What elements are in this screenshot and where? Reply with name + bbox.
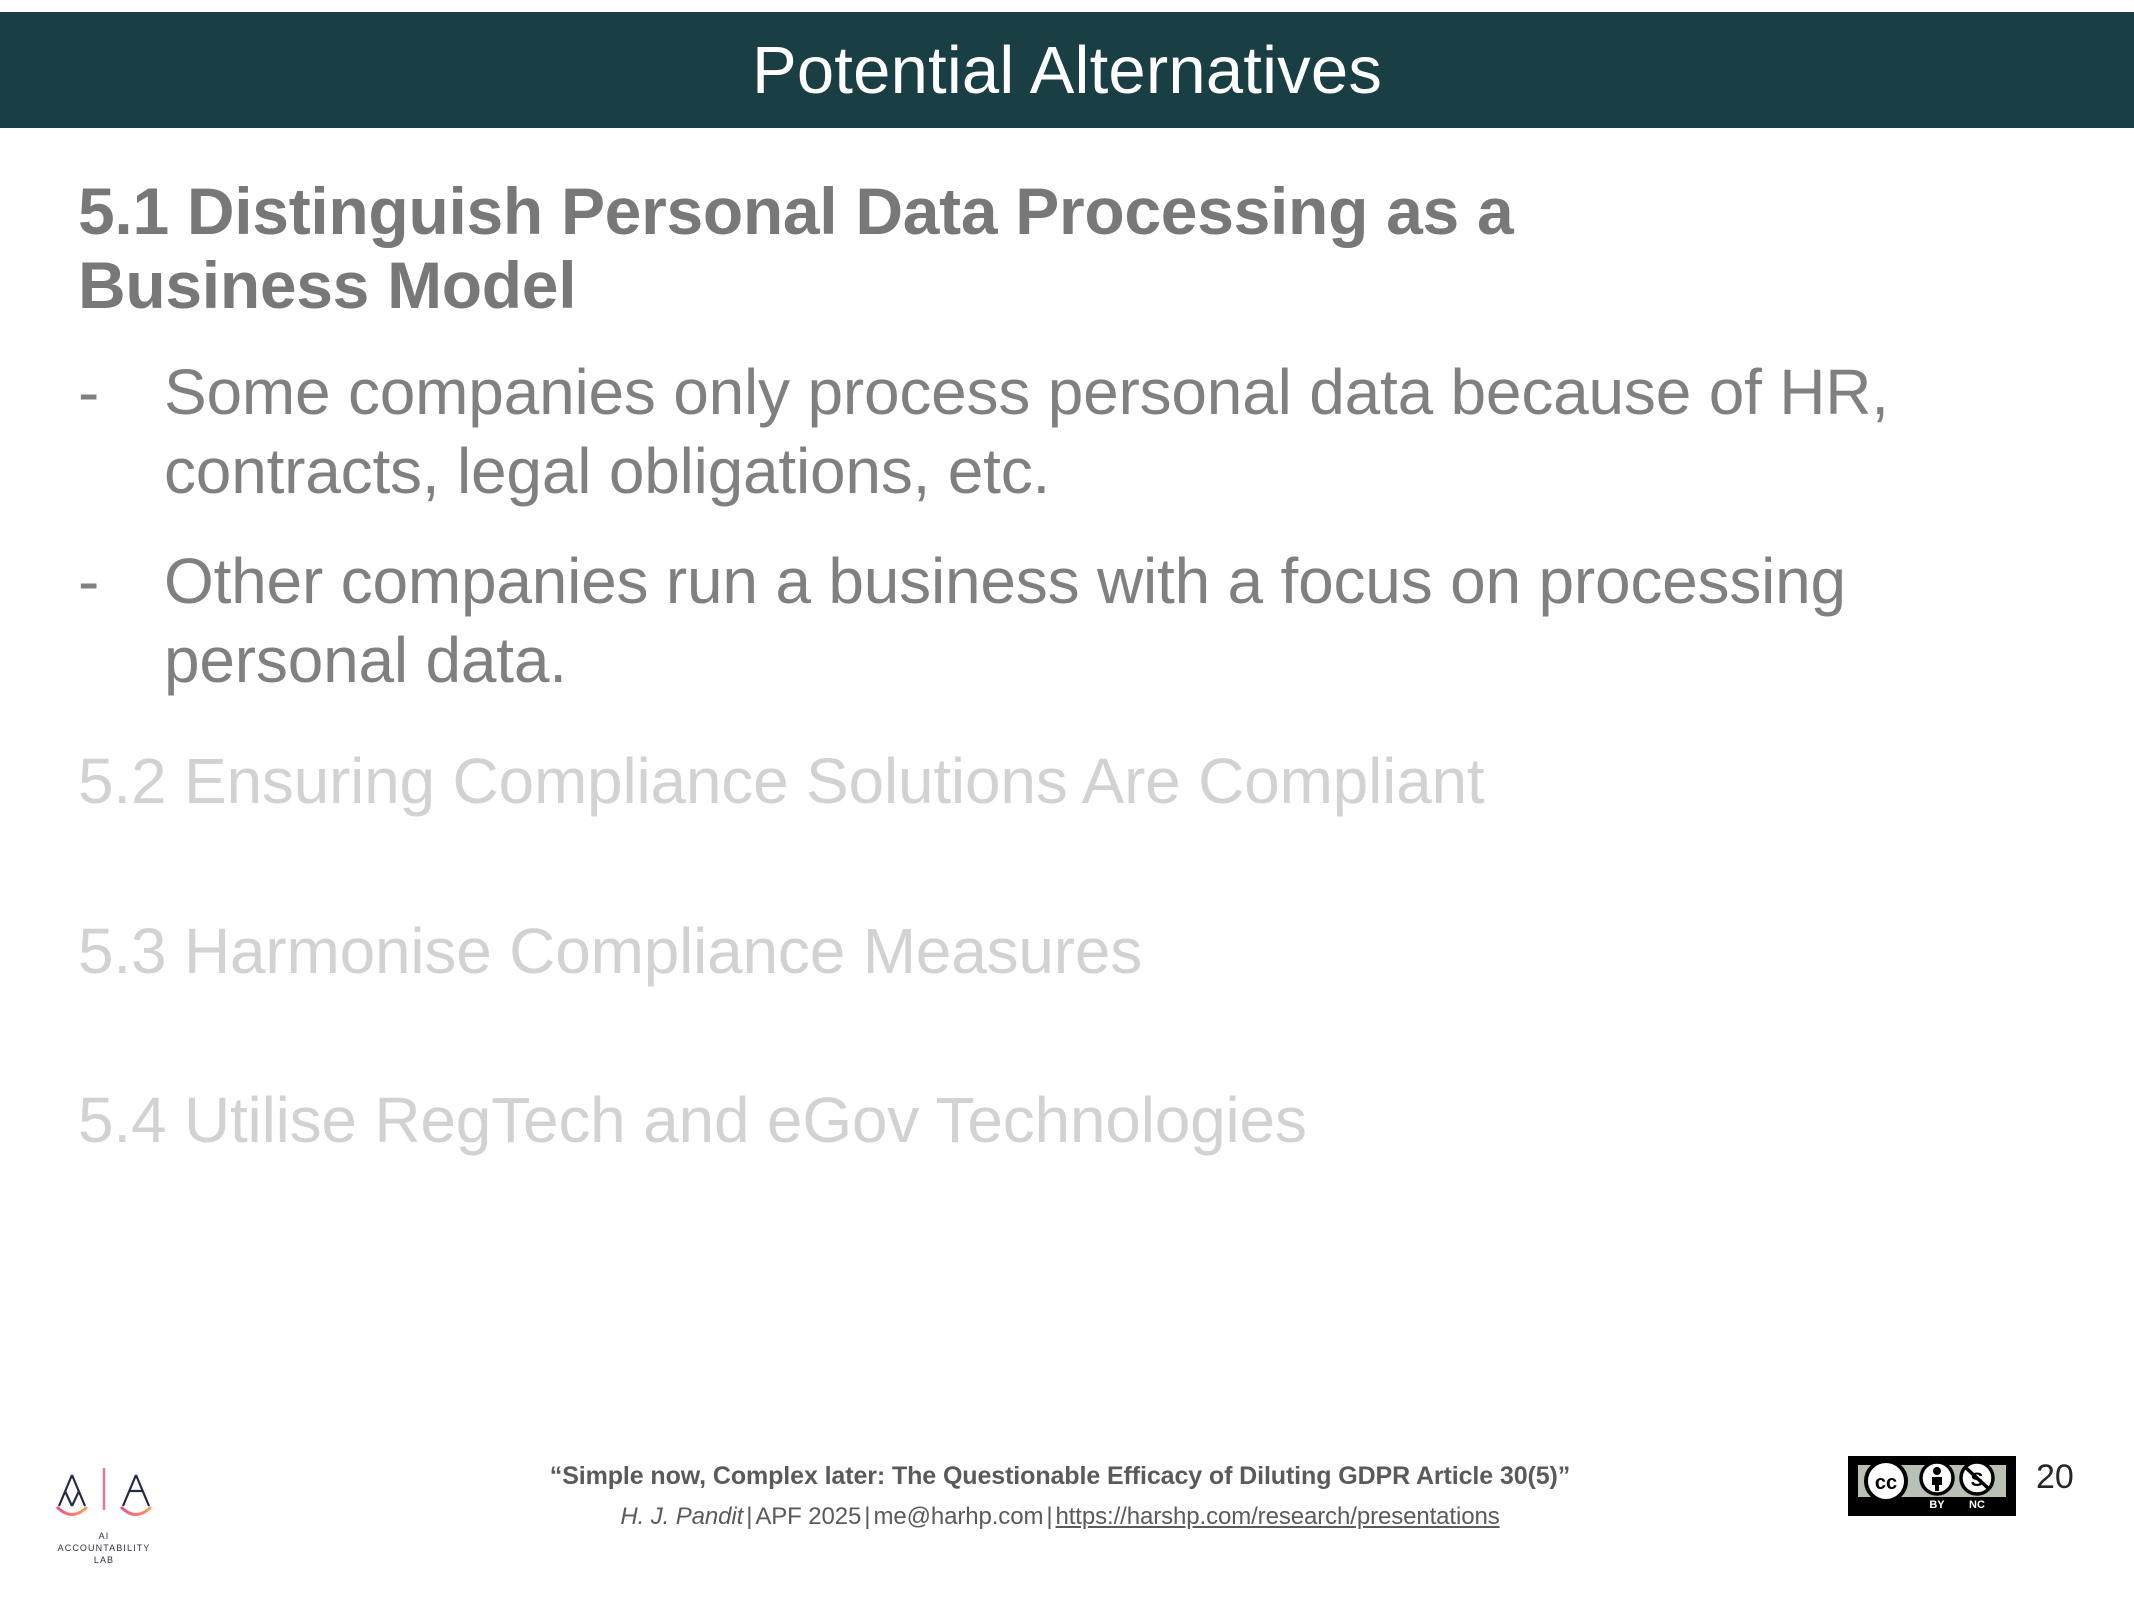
slide-content: 5.1 Distinguish Personal Data Processing…: [78, 175, 2068, 1250]
byline: H. J. Pandit|APF 2025|me@harhp.com|https…: [420, 1500, 1700, 1535]
svg-text:BY: BY: [1929, 1499, 1945, 1511]
byline-separator: |: [861, 1503, 873, 1530]
slide-title: Potential Alternatives: [752, 37, 1382, 104]
upcoming-section-item: 5.3 Harmonise Compliance Measures: [78, 912, 2068, 991]
upcoming-sections-list: 5.2 Ensuring Compliance Solutions Are Co…: [78, 742, 2068, 1160]
svg-text:cc: cc: [1875, 1472, 1897, 1494]
paper-title: “Simple now, Complex later: The Question…: [420, 1460, 1700, 1494]
byline-separator: |: [743, 1503, 755, 1530]
bullet-text: Other companies run a business with a fo…: [164, 542, 2004, 701]
byline-separator: |: [1043, 1503, 1055, 1530]
logo-line-2: ACCOUNTABILITY: [34, 1542, 174, 1554]
upcoming-section-item: 5.4 Utilise RegTech and eGov Technologie…: [78, 1081, 2068, 1160]
author-email: me@harhp.com: [873, 1503, 1043, 1530]
svg-text:NC: NC: [1969, 1499, 1985, 1511]
bullet-item: - Other companies run a business with a …: [78, 542, 2068, 701]
logo-line-3: LAB: [34, 1554, 174, 1566]
bullet-dash-icon: -: [78, 542, 164, 621]
logo-wordmark: AI ACCOUNTABILITY LAB: [34, 1530, 174, 1566]
author-name: H. J. Pandit: [620, 1503, 743, 1530]
bullet-item: - Some companies only process personal d…: [78, 353, 2068, 512]
bullet-list: - Some companies only process personal d…: [78, 353, 2068, 700]
logo-line-1: AI: [34, 1530, 174, 1542]
slide-header-bar: Potential Alternatives: [0, 12, 2134, 128]
upcoming-section-item: 5.2 Ensuring Compliance Solutions Are Co…: [78, 742, 2068, 821]
section-heading: 5.1 Distinguish Personal Data Processing…: [78, 175, 1798, 323]
ai-accountability-lab-logo: AI ACCOUNTABILITY LAB: [34, 1458, 174, 1578]
presentations-link[interactable]: https://harshp.com/research/presentation…: [1055, 1503, 1499, 1530]
creative-commons-by-nc-icon[interactable]: cc BY S NC: [1848, 1456, 2016, 1516]
venue-name: APF 2025: [755, 1503, 861, 1530]
slide-footer: AI ACCOUNTABILITY LAB “Simple now, Compl…: [0, 1450, 2134, 1600]
footer-citation: “Simple now, Complex later: The Question…: [420, 1460, 1700, 1535]
bullet-dash-icon: -: [78, 353, 164, 432]
page-number: 20: [2036, 1460, 2106, 1494]
slide: Potential Alternatives 5.1 Distinguish P…: [0, 0, 2134, 1600]
scales-of-justice-icon: [34, 1458, 174, 1538]
bullet-text: Some companies only process personal dat…: [164, 353, 2004, 512]
